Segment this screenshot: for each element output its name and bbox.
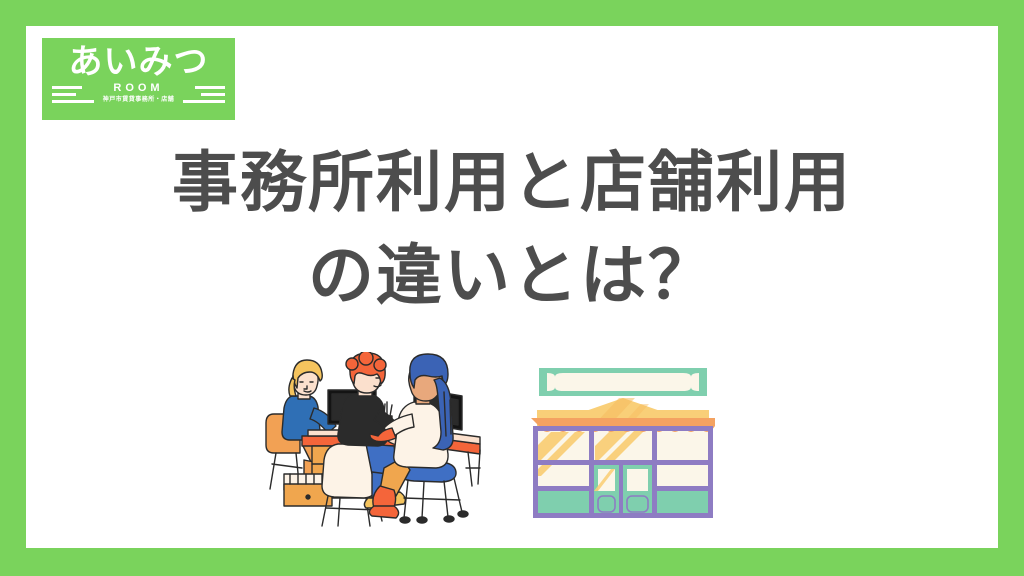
logo-wordmark: あいみつ — [42, 42, 235, 82]
aimitsu-room-logo[interactable]: あいみつ ROOM 神戸市賃貸事務所・店舗 — [42, 38, 235, 120]
logo-rule-lines-left — [52, 86, 94, 110]
office-coworking-illustration — [262, 352, 512, 527]
slide-canvas: あいみつ ROOM 神戸市賃貸事務所・店舗 事務所利用と店舗利用 の違いとは？ — [26, 26, 998, 548]
page-title: 事務所利用と店舗利用 の違いとは？ — [26, 136, 998, 322]
storefront-illustration — [523, 360, 723, 528]
page-title-line-1: 事務所利用と店舗利用 — [26, 136, 998, 229]
illustration-row — [26, 352, 998, 542]
slide-root: あいみつ ROOM 神戸市賃貸事務所・店舗 事務所利用と店舗利用 の違いとは？ — [0, 0, 1024, 576]
page-title-line-2: の違いとは？ — [26, 229, 998, 322]
logo-rule-lines-right — [183, 86, 225, 110]
